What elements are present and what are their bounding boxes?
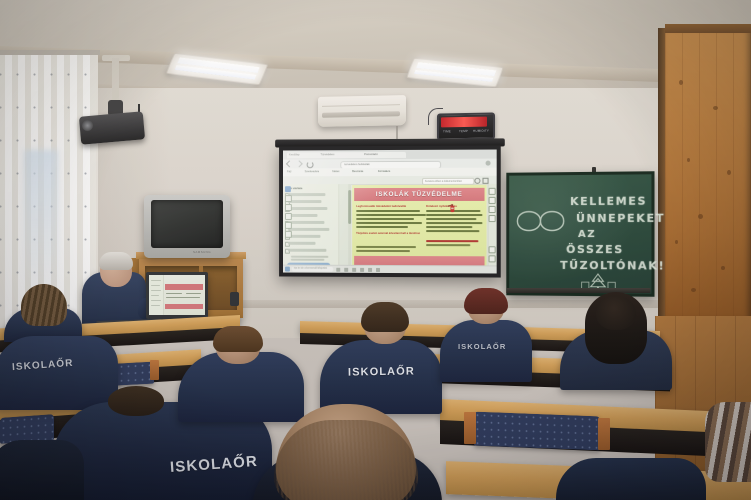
crt-television-screen: [151, 200, 223, 248]
student-front-center-hair: [274, 420, 418, 500]
tv-brand-label: SAMSUNG: [193, 250, 211, 254]
wood-knot: [713, 106, 718, 110]
slide-body-line: [356, 210, 420, 212]
menu-item-file[interactable]: Fájl: [287, 170, 291, 173]
blackboard-line-1: ÜNNEPEKET: [576, 212, 665, 225]
classroom-photo: TIME TEMP HUMIDITY Kezdőlap Tűzvédelem P…: [0, 0, 751, 500]
curtain-daylight-glow: [24, 150, 58, 300]
browser-tab-0[interactable]: Kezdőlap: [287, 152, 321, 159]
sidebar-item-6[interactable]: [288, 235, 321, 238]
slide-title-text: ISKOLÁK TŰZVÉDELME: [376, 191, 463, 198]
display-label-temp: TEMP: [459, 129, 468, 133]
sidebar-item-3[interactable]: [288, 214, 318, 217]
slide-body-line: [356, 250, 410, 252]
wood-knot: [721, 266, 725, 270]
menu-item-edit[interactable]: Szerkesztés: [305, 170, 319, 173]
display-screen: [441, 117, 487, 128]
projector-mount-pole: [112, 58, 119, 102]
tool-image-icon[interactable]: [285, 213, 292, 220]
menu-item-insert[interactable]: Beszúrás: [352, 170, 363, 173]
curtain-rod: [0, 50, 100, 55]
slide-body-line: [356, 214, 426, 216]
browser-profile-icon[interactable]: [486, 161, 491, 166]
slide-left-heading: Legfontosabb tűzvédelmi tudnivalók: [356, 204, 436, 208]
canvas-scrollbar-thumb[interactable]: [348, 190, 350, 224]
document-search-input[interactable]: Keresés ebben a dokumentumban: [422, 177, 474, 184]
slide-highlight-text: Tűzjelzés esetén azonnal értesíteni kell…: [356, 232, 420, 242]
student-center-right-hair: [464, 288, 508, 314]
sidebar-item-0[interactable]: [288, 193, 325, 196]
wood-knot: [698, 214, 703, 219]
slide-body-line: [356, 246, 416, 248]
person-right-shoulder: [556, 458, 706, 500]
wood-column-cap: [665, 24, 751, 33]
panel-help-icon[interactable]: [488, 206, 495, 213]
chair-post: [150, 360, 159, 380]
taskbar-app-icon[interactable]: [336, 267, 340, 271]
blackboard-line-2: AZ: [578, 229, 596, 240]
panel-comments-icon[interactable]: [488, 188, 495, 195]
wood-knot: [687, 158, 690, 162]
taskbar-app-icon[interactable]: [352, 267, 356, 271]
jacket-label-center: ISKOLAŐR: [348, 365, 415, 378]
tool-select-active-icon[interactable]: [284, 186, 290, 192]
monitor-slide-title-band: [165, 284, 203, 290]
slide-title-banner: ISKOLÁK TŰZVÉDELME: [354, 188, 484, 201]
panel-settings-icon[interactable]: [488, 215, 495, 222]
jacket-label-centerright: ISKOLAŐR: [458, 342, 506, 351]
taskbar-search-input[interactable]: Írja be ide a keresendő kifejezést: [292, 267, 333, 272]
taskbar-app-icon[interactable]: [360, 267, 364, 271]
wood-panel-column: [665, 28, 751, 320]
menu-item-view[interactable]: Nézet: [332, 170, 339, 173]
wood-knot: [691, 288, 696, 292]
browser-tab-2[interactable]: Prezentáció: [362, 151, 406, 158]
start-button-icon[interactable]: [285, 267, 290, 272]
tool-text-icon[interactable]: [285, 195, 292, 202]
slide-body-line: [356, 218, 414, 220]
menu-item-format[interactable]: Formátum: [378, 170, 390, 173]
browser-tab-1[interactable]: Tűzvédelem: [318, 152, 364, 159]
browser-reload-icon[interactable]: [307, 161, 314, 168]
display-label-time: TIME: [443, 129, 451, 133]
slide-body-line: [426, 218, 476, 220]
student-left-hair: [21, 284, 67, 326]
desktop-speaker: [230, 292, 239, 306]
sidebar-item-8[interactable]: [288, 249, 326, 252]
blackboard-chalk-tray: [506, 288, 650, 293]
sidebar-note-line: [291, 259, 325, 261]
projection-screen-assembly: Kezdőlap Tűzvédelem Prezentáció tuzvedel…: [279, 145, 501, 277]
sidebar-item-4[interactable]: [288, 221, 324, 224]
tool-comment-icon[interactable]: [285, 231, 292, 238]
blackboard-line-0: KELLEMES: [570, 195, 647, 208]
student-center-left-hair: [213, 326, 263, 352]
slide-body-line: [426, 244, 470, 246]
chair-post: [598, 418, 610, 450]
blackboard-line-3: ÖSSZES: [566, 243, 624, 256]
slide-body-line: [426, 230, 479, 232]
wood-knot: [679, 80, 683, 85]
chair-post: [464, 412, 476, 444]
slide-body-line: [426, 214, 482, 216]
wood-knot: [675, 240, 678, 244]
person-striped-sleeve: [705, 402, 751, 482]
sidebar-item-5[interactable]: [288, 228, 329, 231]
chair-back: [474, 412, 600, 451]
fire-extinguisher-icon: [446, 203, 458, 213]
sidebar-item-1[interactable]: [288, 200, 322, 203]
student-frontleft-head: [108, 386, 164, 416]
taskbar-app-icon[interactable]: [344, 267, 348, 271]
wall-digital-display: TIME TEMP HUMIDITY: [437, 112, 495, 140]
tool-shape-icon[interactable]: [285, 204, 292, 211]
sidebar-item-7[interactable]: [288, 242, 316, 245]
blackboard: KELLEMES ÜNNEPEKET AZ ÖSSZES TŰZOLTÓNAK!: [506, 171, 654, 297]
slide-body-line: [356, 222, 422, 224]
slide-body-line: [426, 240, 478, 242]
slide-body-line: [426, 226, 472, 228]
instructor-hair: [99, 252, 133, 270]
sidebar-note-line: [291, 256, 328, 258]
wood-column-edge: [658, 28, 665, 320]
student-right-head: [596, 296, 636, 330]
wood-knot: [727, 170, 731, 175]
monitor-slide-footer-band: [165, 304, 203, 309]
tool-line-icon[interactable]: [285, 222, 292, 229]
person-left-foreground-shoulder: [0, 440, 84, 500]
slide-body-line: [356, 226, 408, 228]
student-center-right-torso: [440, 320, 532, 382]
slide-right-subheading: [426, 236, 427, 239]
projected-image: Kezdőlap Tűzvédelem Prezentáció tuzvedel…: [283, 150, 497, 274]
panel-notes-icon[interactable]: [488, 197, 495, 204]
display-label-humidity: HUMIDITY: [473, 129, 489, 133]
panel-share-icon[interactable]: [488, 246, 495, 253]
chalk-infinity-drawing: [515, 205, 566, 237]
student-center-hair: [361, 302, 409, 332]
taskbar-app-icon[interactable]: [376, 267, 380, 271]
blackboard-line-4: TŰZOLTÓNAK!: [560, 259, 665, 273]
taskbar-app-icon[interactable]: [368, 267, 372, 271]
sidebar-item-2[interactable]: [288, 207, 327, 210]
slide-body-line: [426, 222, 482, 224]
zoom-icon[interactable]: [474, 178, 480, 184]
student-left-torso: [0, 336, 118, 410]
panel-more-icon[interactable]: [488, 255, 495, 262]
